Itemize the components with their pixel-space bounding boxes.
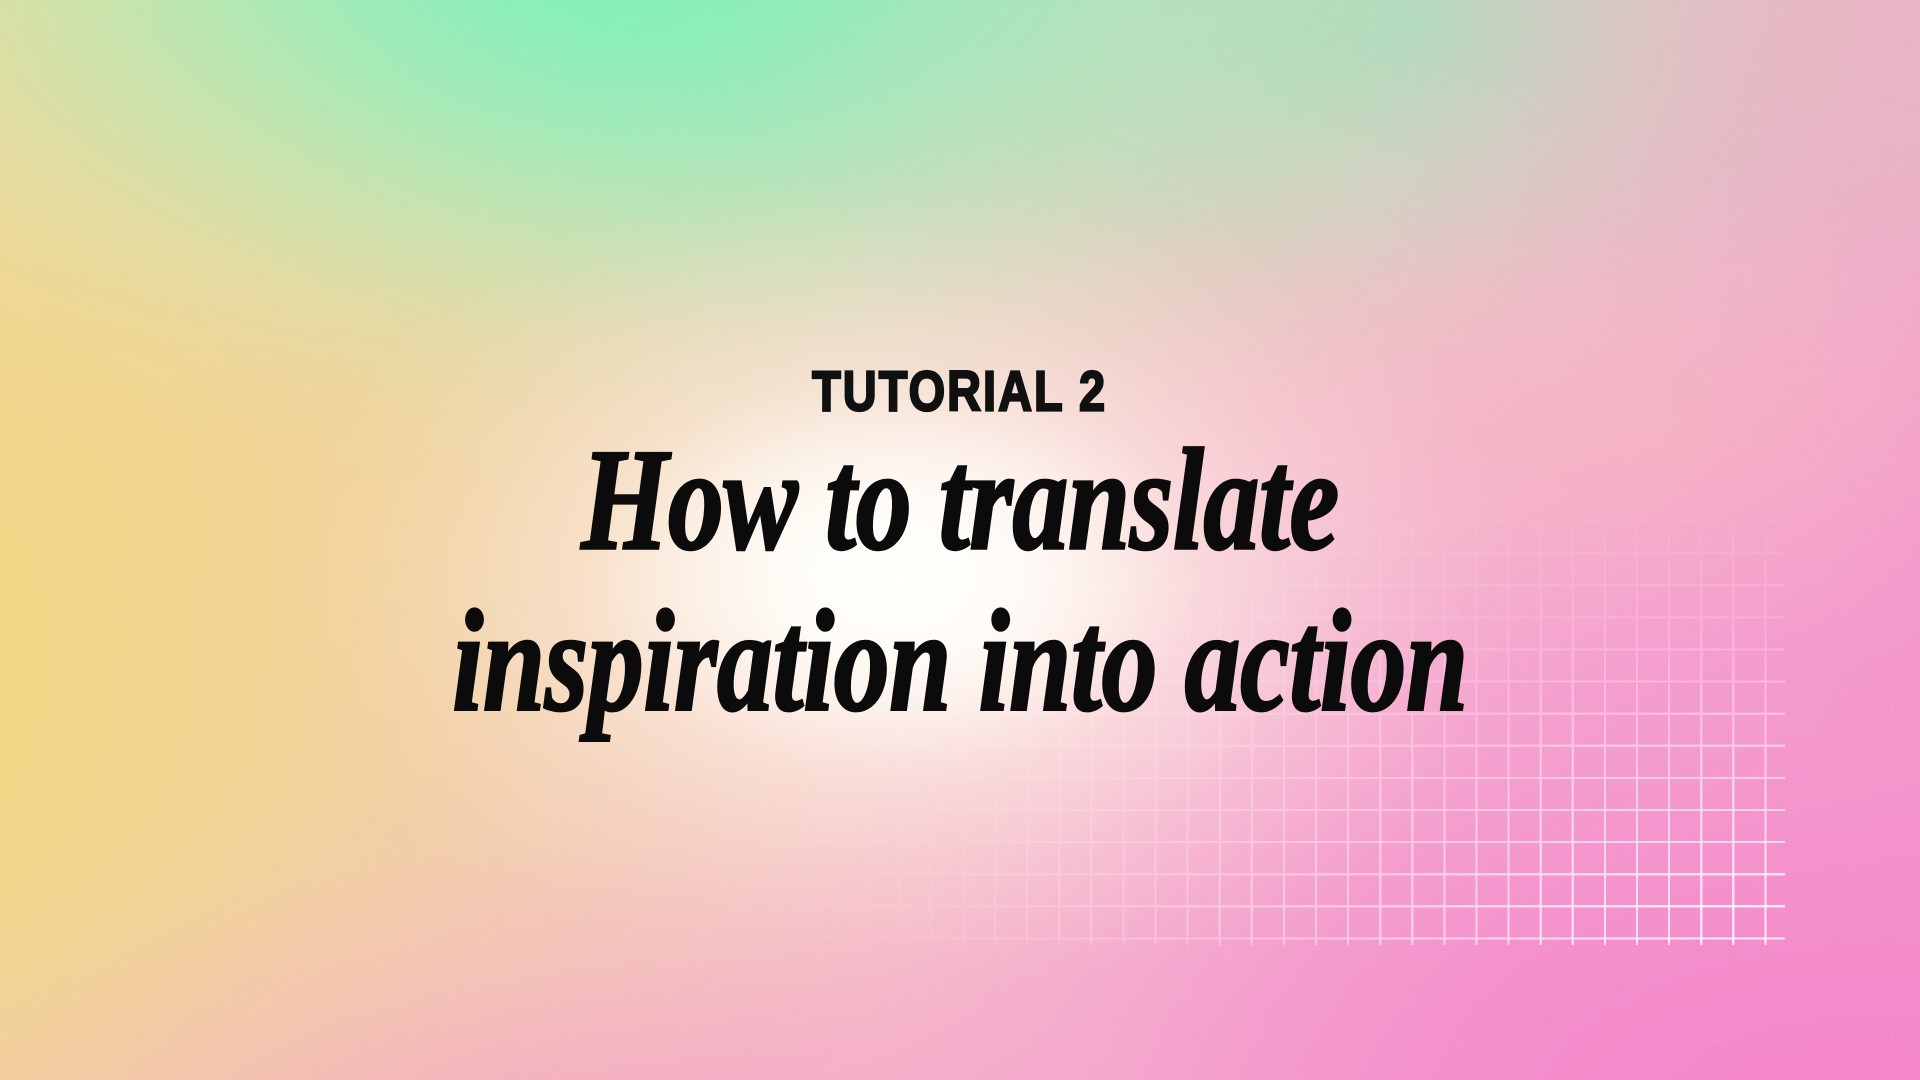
slide-canvas: TUTORIAL 2 How to translate inspiration … [0, 0, 1920, 1080]
page-title-line-2: inspiration into action [452, 578, 1467, 744]
title-block: TUTORIAL 2 How to translate inspiration … [0, 0, 1920, 1080]
tutorial-label: TUTORIAL 2 [812, 363, 1107, 419]
page-title-line-1: How to translate [452, 417, 1467, 583]
page-title: How to translate inspiration into action [452, 417, 1467, 745]
